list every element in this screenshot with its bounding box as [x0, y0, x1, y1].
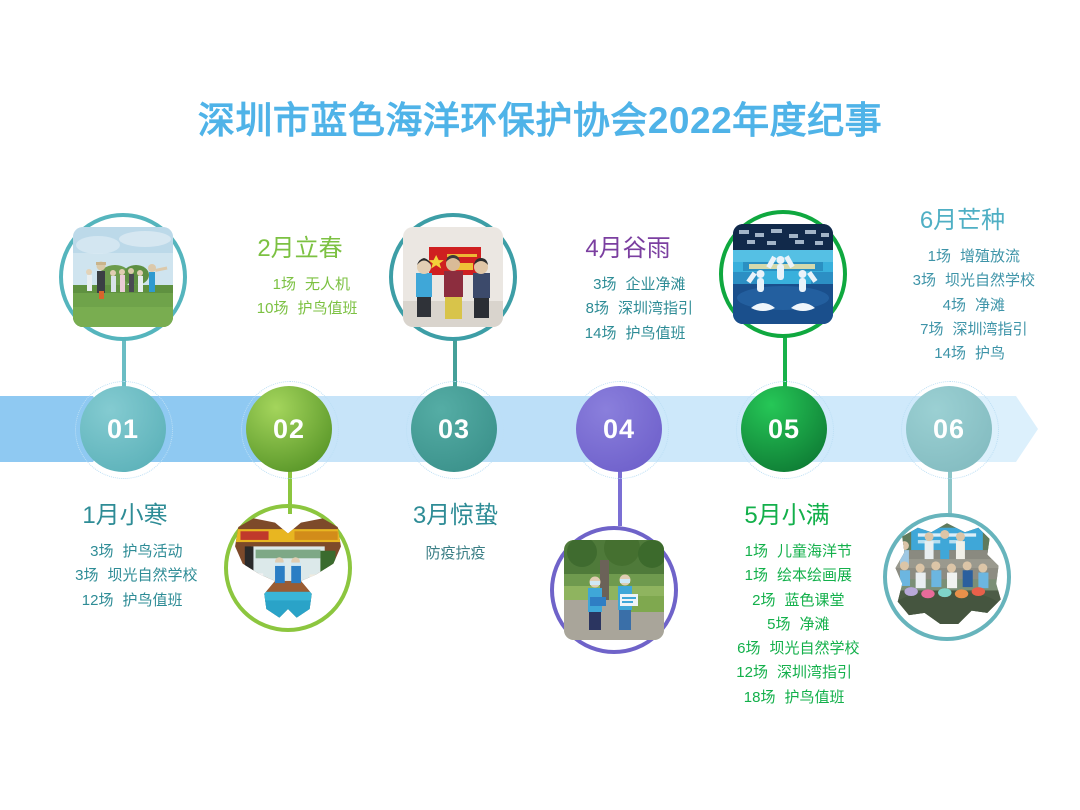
list-item: 7场深圳湾指引: [855, 318, 1070, 342]
item-count: 18场: [729, 686, 775, 710]
item-label: 企业净滩: [625, 276, 685, 293]
list-item: 1场增殖放流: [855, 245, 1070, 269]
item-count: 3场: [570, 273, 616, 297]
month-label-01: 1月小寒: [30, 495, 220, 530]
item-count: 2场: [729, 589, 775, 613]
item-label: 坝光自然学校: [107, 567, 197, 584]
infographic-canvas: 深圳市蓝色海洋环保护协会2022年度纪事 01 02 03 04: [0, 0, 1080, 810]
item-count: 10场: [242, 297, 288, 321]
list-item: 14场护鸟值班: [533, 322, 723, 346]
item-label: 增殖放流: [960, 248, 1020, 265]
item-label: 蓝色课堂: [784, 592, 844, 609]
node-text-01: 1月小寒 3场护鸟活动 3场坝光自然学校 12场护鸟值班: [30, 495, 220, 613]
list-item: 12场深圳湾指引: [672, 661, 902, 685]
list-item: 3场坝光自然学校: [855, 269, 1070, 293]
item-count: 12场: [722, 661, 768, 685]
list-item: 3场企业净滩: [533, 273, 723, 297]
item-count: 5场: [744, 613, 790, 637]
node-text-04: 4月谷雨 3场企业净滩 8场深圳湾指引 14场护鸟值班: [533, 228, 723, 346]
month-label-03: 3月惊蛰: [368, 495, 543, 530]
month-label-05: 5月小满: [672, 495, 902, 530]
timeline-node-01[interactable]: 01: [80, 386, 166, 472]
item-count: 4场: [920, 294, 966, 318]
scene-red-banner-group: [403, 227, 503, 327]
item-label: 绘本绘画展: [777, 567, 852, 584]
list-item: 1场儿童海洋节: [672, 540, 902, 564]
node-text-02: 2月立春 1场无人机 10场护鸟值班: [205, 228, 395, 322]
month-label-06: 6月芒种: [855, 200, 1070, 235]
list-item: 8场深圳湾指引: [533, 297, 723, 321]
item-label: 护鸟值班: [122, 592, 182, 609]
list-item: 18场护鸟值班: [672, 686, 902, 710]
node-text-03: 3月惊蛰 防疫抗疫: [368, 495, 543, 563]
list-item: 3场护鸟活动: [30, 540, 220, 564]
timeline-node-04[interactable]: 04: [576, 386, 662, 472]
node-number-badge: 06: [906, 386, 992, 472]
node-number-badge: 04: [576, 386, 662, 472]
item-count: 8场: [563, 297, 609, 321]
list-item: 4场净滩: [855, 294, 1070, 318]
item-count: 3场: [52, 564, 98, 588]
scene-park-volunteers: [564, 540, 664, 640]
scene-ocean-festival-stage: [733, 224, 833, 324]
item-label: 坝光自然学校: [945, 272, 1035, 289]
list-item: 12场护鸟值班: [30, 589, 220, 613]
node-text-06: 6月芒种 1场增殖放流 3场坝光自然学校 4场净滩 7场深圳湾指引 14场护鸟: [855, 200, 1070, 366]
node-number-badge: 05: [741, 386, 827, 472]
timeline-node-02[interactable]: 02: [246, 386, 332, 472]
item-label: 无人机: [305, 276, 350, 293]
item-count: 12场: [67, 589, 113, 613]
month-label-02: 2月立春: [205, 228, 395, 263]
item-count: 6场: [714, 637, 760, 661]
item-label: 净滩: [975, 297, 1005, 314]
item-count: 1场: [722, 564, 768, 588]
photo-image: [73, 227, 173, 327]
photo-image: [564, 540, 664, 640]
month-items-01: 3场护鸟活动 3场坝光自然学校 12场护鸟值班: [30, 540, 220, 613]
item-count: 1场: [250, 273, 296, 297]
item-label: 坝光自然学校: [769, 640, 859, 657]
photo-outdoor-grass-field-group: [59, 213, 187, 341]
list-item: 6场坝光自然学校: [672, 637, 902, 661]
node-number-badge: 01: [80, 386, 166, 472]
timeline-node-05[interactable]: 05: [741, 386, 827, 472]
item-label: 深圳湾指引: [777, 664, 852, 681]
list-item: 1场绘本绘画展: [672, 564, 902, 588]
photo-two-volunteers-holding-signs: [550, 526, 678, 654]
timeline-node-06[interactable]: 06: [906, 386, 992, 472]
node-number-badge: 03: [411, 386, 497, 472]
item-label: 儿童海洋节: [777, 543, 852, 560]
photo-image: [403, 227, 503, 327]
item-count: 14场: [570, 322, 616, 346]
month-note-03: 防疫抗疫: [368, 542, 543, 563]
node-text-05: 5月小满 1场儿童海洋节 1场绘本绘画展 2场蓝色课堂 5场净滩 6场坝光自然学…: [672, 495, 902, 710]
month-items-06: 1场增殖放流 3场坝光自然学校 4场净滩 7场深圳湾指引 14场护鸟: [855, 245, 1070, 366]
item-label: 护鸟值班: [297, 300, 357, 317]
item-count: 3场: [890, 269, 936, 293]
item-count: 14场: [920, 342, 966, 366]
page-title: 深圳市蓝色海洋环保护协会2022年度纪事: [0, 90, 1080, 144]
list-item: 14场护鸟: [855, 342, 1070, 366]
photo-volunteer-service-station-butterfly: [224, 504, 352, 632]
item-label: 深圳湾指引: [618, 300, 693, 317]
list-item: 1场无人机: [205, 273, 395, 297]
photo-image: [733, 224, 833, 324]
item-label: 护鸟值班: [784, 689, 844, 706]
month-label-04: 4月谷雨: [533, 228, 723, 263]
item-label: 护鸟: [975, 345, 1005, 362]
item-count: 1场: [905, 245, 951, 269]
photo-children-fish-release-riverbank: [883, 513, 1011, 641]
photo-childrens-ocean-festival-stage-performance: [719, 210, 847, 338]
item-label: 深圳湾指引: [952, 321, 1027, 338]
item-label: 护鸟活动: [122, 543, 182, 560]
item-count: 7场: [897, 318, 943, 342]
list-item: 3场坝光自然学校: [30, 564, 220, 588]
list-item: 2场蓝色课堂: [672, 589, 902, 613]
item-count: 1场: [722, 540, 768, 564]
month-items-02: 1场无人机 10场护鸟值班: [205, 273, 395, 322]
photo-party-branch-red-banner-three-people: [389, 213, 517, 341]
month-items-05: 1场儿童海洋节 1场绘本绘画展 2场蓝色课堂 5场净滩 6场坝光自然学校 12场…: [672, 540, 902, 710]
month-items-04: 3场企业净滩 8场深圳湾指引 14场护鸟值班: [533, 273, 723, 346]
item-label: 护鸟值班: [625, 325, 685, 342]
list-item: 10场护鸟值班: [205, 297, 395, 321]
item-count: 3场: [67, 540, 113, 564]
node-number-badge: 02: [246, 386, 332, 472]
timeline-node-03[interactable]: 03: [411, 386, 497, 472]
scene-grass-field: [73, 227, 173, 327]
list-item: 5场净滩: [672, 613, 902, 637]
item-label: 净滩: [799, 616, 829, 633]
